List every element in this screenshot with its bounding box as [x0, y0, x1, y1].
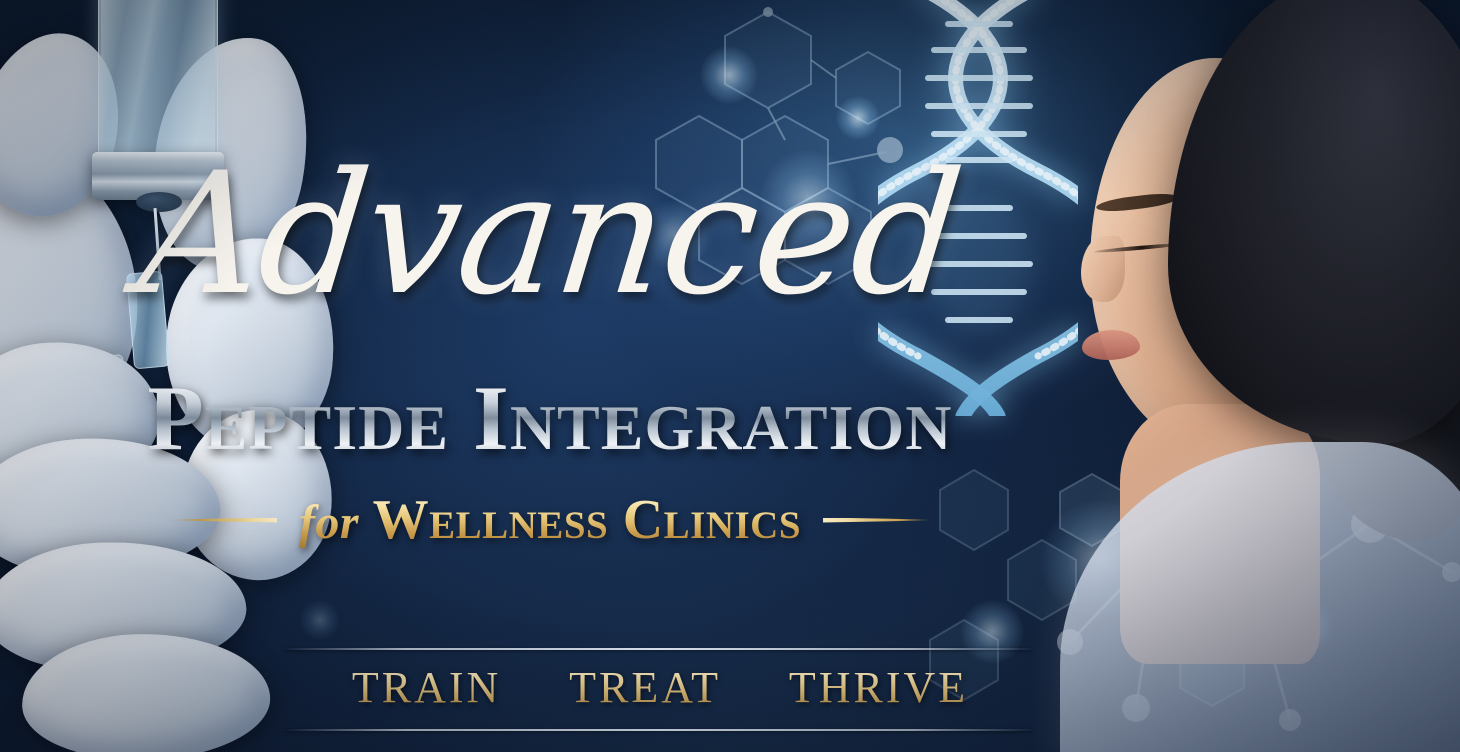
tagline-separator-1: | [501, 663, 569, 712]
divider-top [285, 648, 1033, 650]
headline-block: Advanced Peptide Integration for Wellnes… [0, 0, 1100, 752]
page-title: Peptide Integration [0, 372, 1100, 464]
gold-dash-right-icon [823, 518, 931, 523]
tagline-separator-2: | [721, 663, 789, 712]
subtitle-main: Wellness Clinics [373, 489, 801, 551]
gold-dash-left-icon [169, 518, 277, 523]
peptide-integration-banner: Advanced Peptide Integration for Wellnes… [0, 0, 1460, 752]
tagline-treat: TREAT [569, 663, 721, 712]
tagline-train: TRAIN [352, 663, 501, 712]
tagline-thrive: THRIVE [789, 663, 968, 712]
subtitle-lead: for [299, 496, 359, 549]
divider-bottom [285, 729, 1033, 731]
tagline: TRAIN | TREAT | THRIVE [0, 666, 1320, 710]
subtitle: for Wellness Clinics [299, 492, 801, 548]
subtitle-row: for Wellness Clinics [0, 492, 1100, 548]
woman-profile-photo [1040, 0, 1460, 752]
script-word-advanced: Advanced [0, 150, 1109, 318]
